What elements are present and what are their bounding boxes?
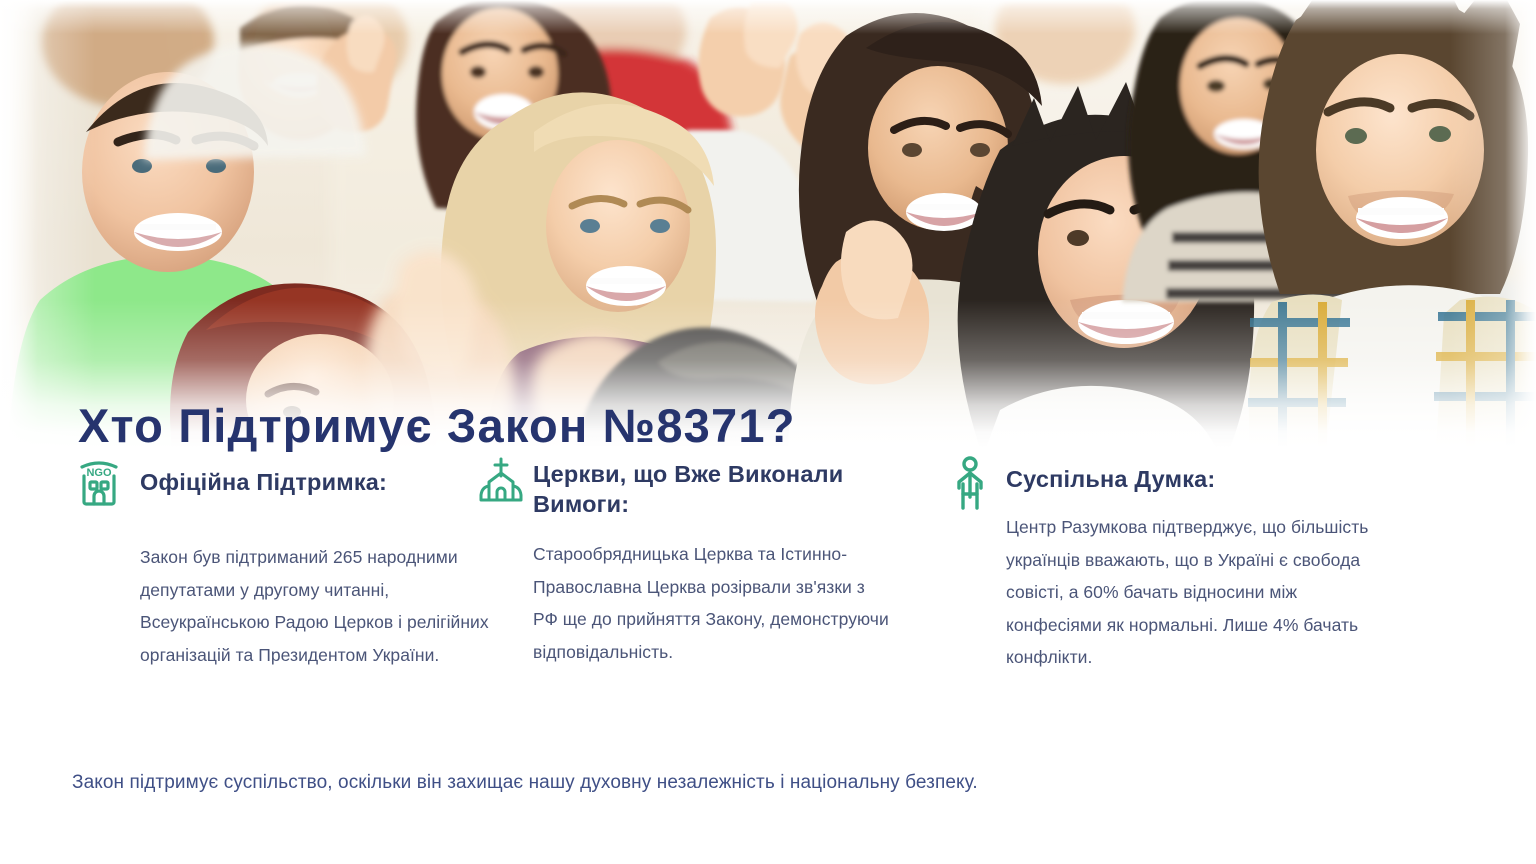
- column-public-opinion: Суспільна Думка: Центр Разумкова підтвер…: [940, 448, 1460, 674]
- info-columns: NGO Офіційна Підтримка: Закон був підтри…: [0, 448, 1536, 674]
- person-icon: [950, 456, 996, 508]
- group-photo: [0, 0, 1536, 448]
- hero-banner: [0, 0, 1536, 448]
- column-body: Офіційна Підтримка: Закон був підтримани…: [132, 448, 470, 671]
- page-title: Хто Підтримує Закон №8371?: [78, 402, 796, 449]
- column-text: Закон був підтриманий 265 народними депу…: [140, 541, 500, 671]
- column-body: Суспільна Думка: Центр Разумкова підтвер…: [1006, 448, 1460, 674]
- column-text: Центр Разумкова підтверджує, що більшіст…: [1006, 511, 1374, 674]
- column-body: Церкви, що Вже Виконали Вимоги: Старообр…: [533, 448, 940, 668]
- column-compliant-churches: Церкви, що Вже Виконали Вимоги: Старообр…: [470, 448, 940, 674]
- column-heading: Церкви, що Вже Виконали Вимоги:: [533, 459, 940, 519]
- column-heading: Суспільна Думка:: [1006, 464, 1460, 494]
- column-official-support: NGO Офіційна Підтримка: Закон був підтри…: [0, 448, 470, 674]
- footer-note: Закон підтримує суспільство, оскільки ві…: [72, 772, 978, 794]
- ngo-building-icon: NGO: [76, 456, 122, 508]
- church-icon: [477, 456, 523, 508]
- column-heading: Офіційна Підтримка:: [140, 467, 470, 497]
- ngo-icon-label: NGO: [86, 467, 112, 479]
- column-text: Старообрядницька Церква та Істинно-Право…: [533, 538, 891, 668]
